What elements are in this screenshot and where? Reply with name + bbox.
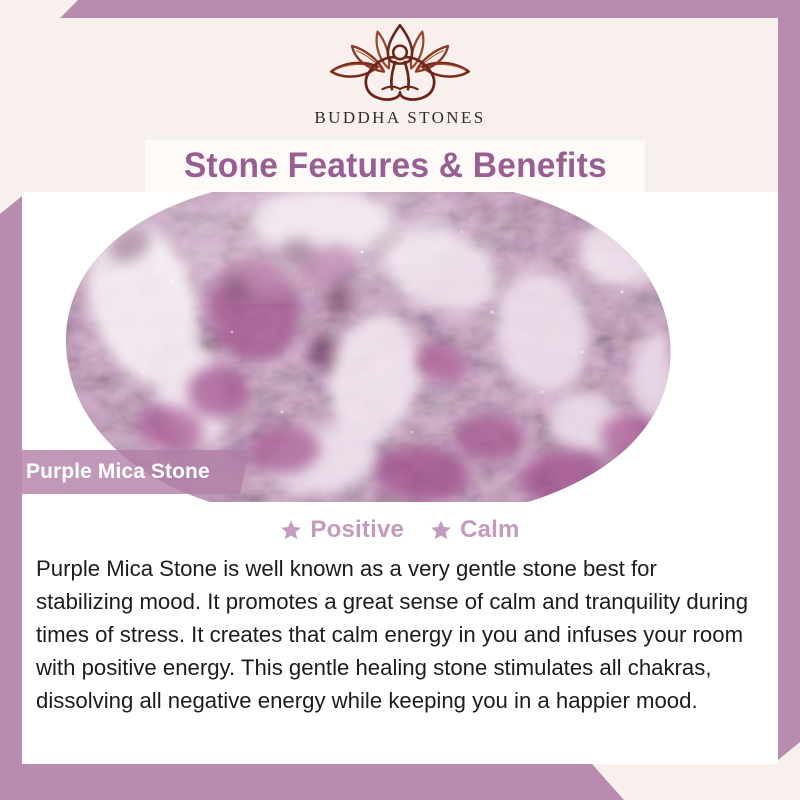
status-badge: Purple Mica Stone: [0, 450, 250, 494]
page-title: Stone Features & Benefits: [183, 146, 606, 186]
frame-border-right: [778, 0, 800, 800]
description-text: Purple Mica Stone is well known as a ver…: [36, 552, 753, 717]
keyword-item-calm: Calm: [430, 516, 520, 544]
title-banner: Stone Features & Benefits: [145, 140, 645, 192]
brand-name: BUDDHA STONES: [314, 108, 485, 128]
infographic-canvas: BUDDHA STONES Stone Features & Benefits: [0, 0, 800, 800]
stone-name-label: Purple Mica Stone: [26, 460, 210, 484]
brand-header: BUDDHA STONES: [0, 0, 800, 140]
keyword-label: Calm: [460, 516, 520, 544]
star-icon: [430, 519, 452, 541]
keyword-item-positive: Positive: [280, 516, 404, 544]
description-panel: Positive Calm Purple Mica Stone is well …: [22, 502, 778, 764]
lotus-meditation-icon: [320, 22, 480, 104]
star-icon: [280, 519, 302, 541]
frame-border-bottom: [0, 764, 800, 800]
keyword-list: Positive Calm: [22, 502, 778, 544]
keyword-label: Positive: [310, 516, 404, 544]
frame-border-top: [0, 0, 800, 18]
